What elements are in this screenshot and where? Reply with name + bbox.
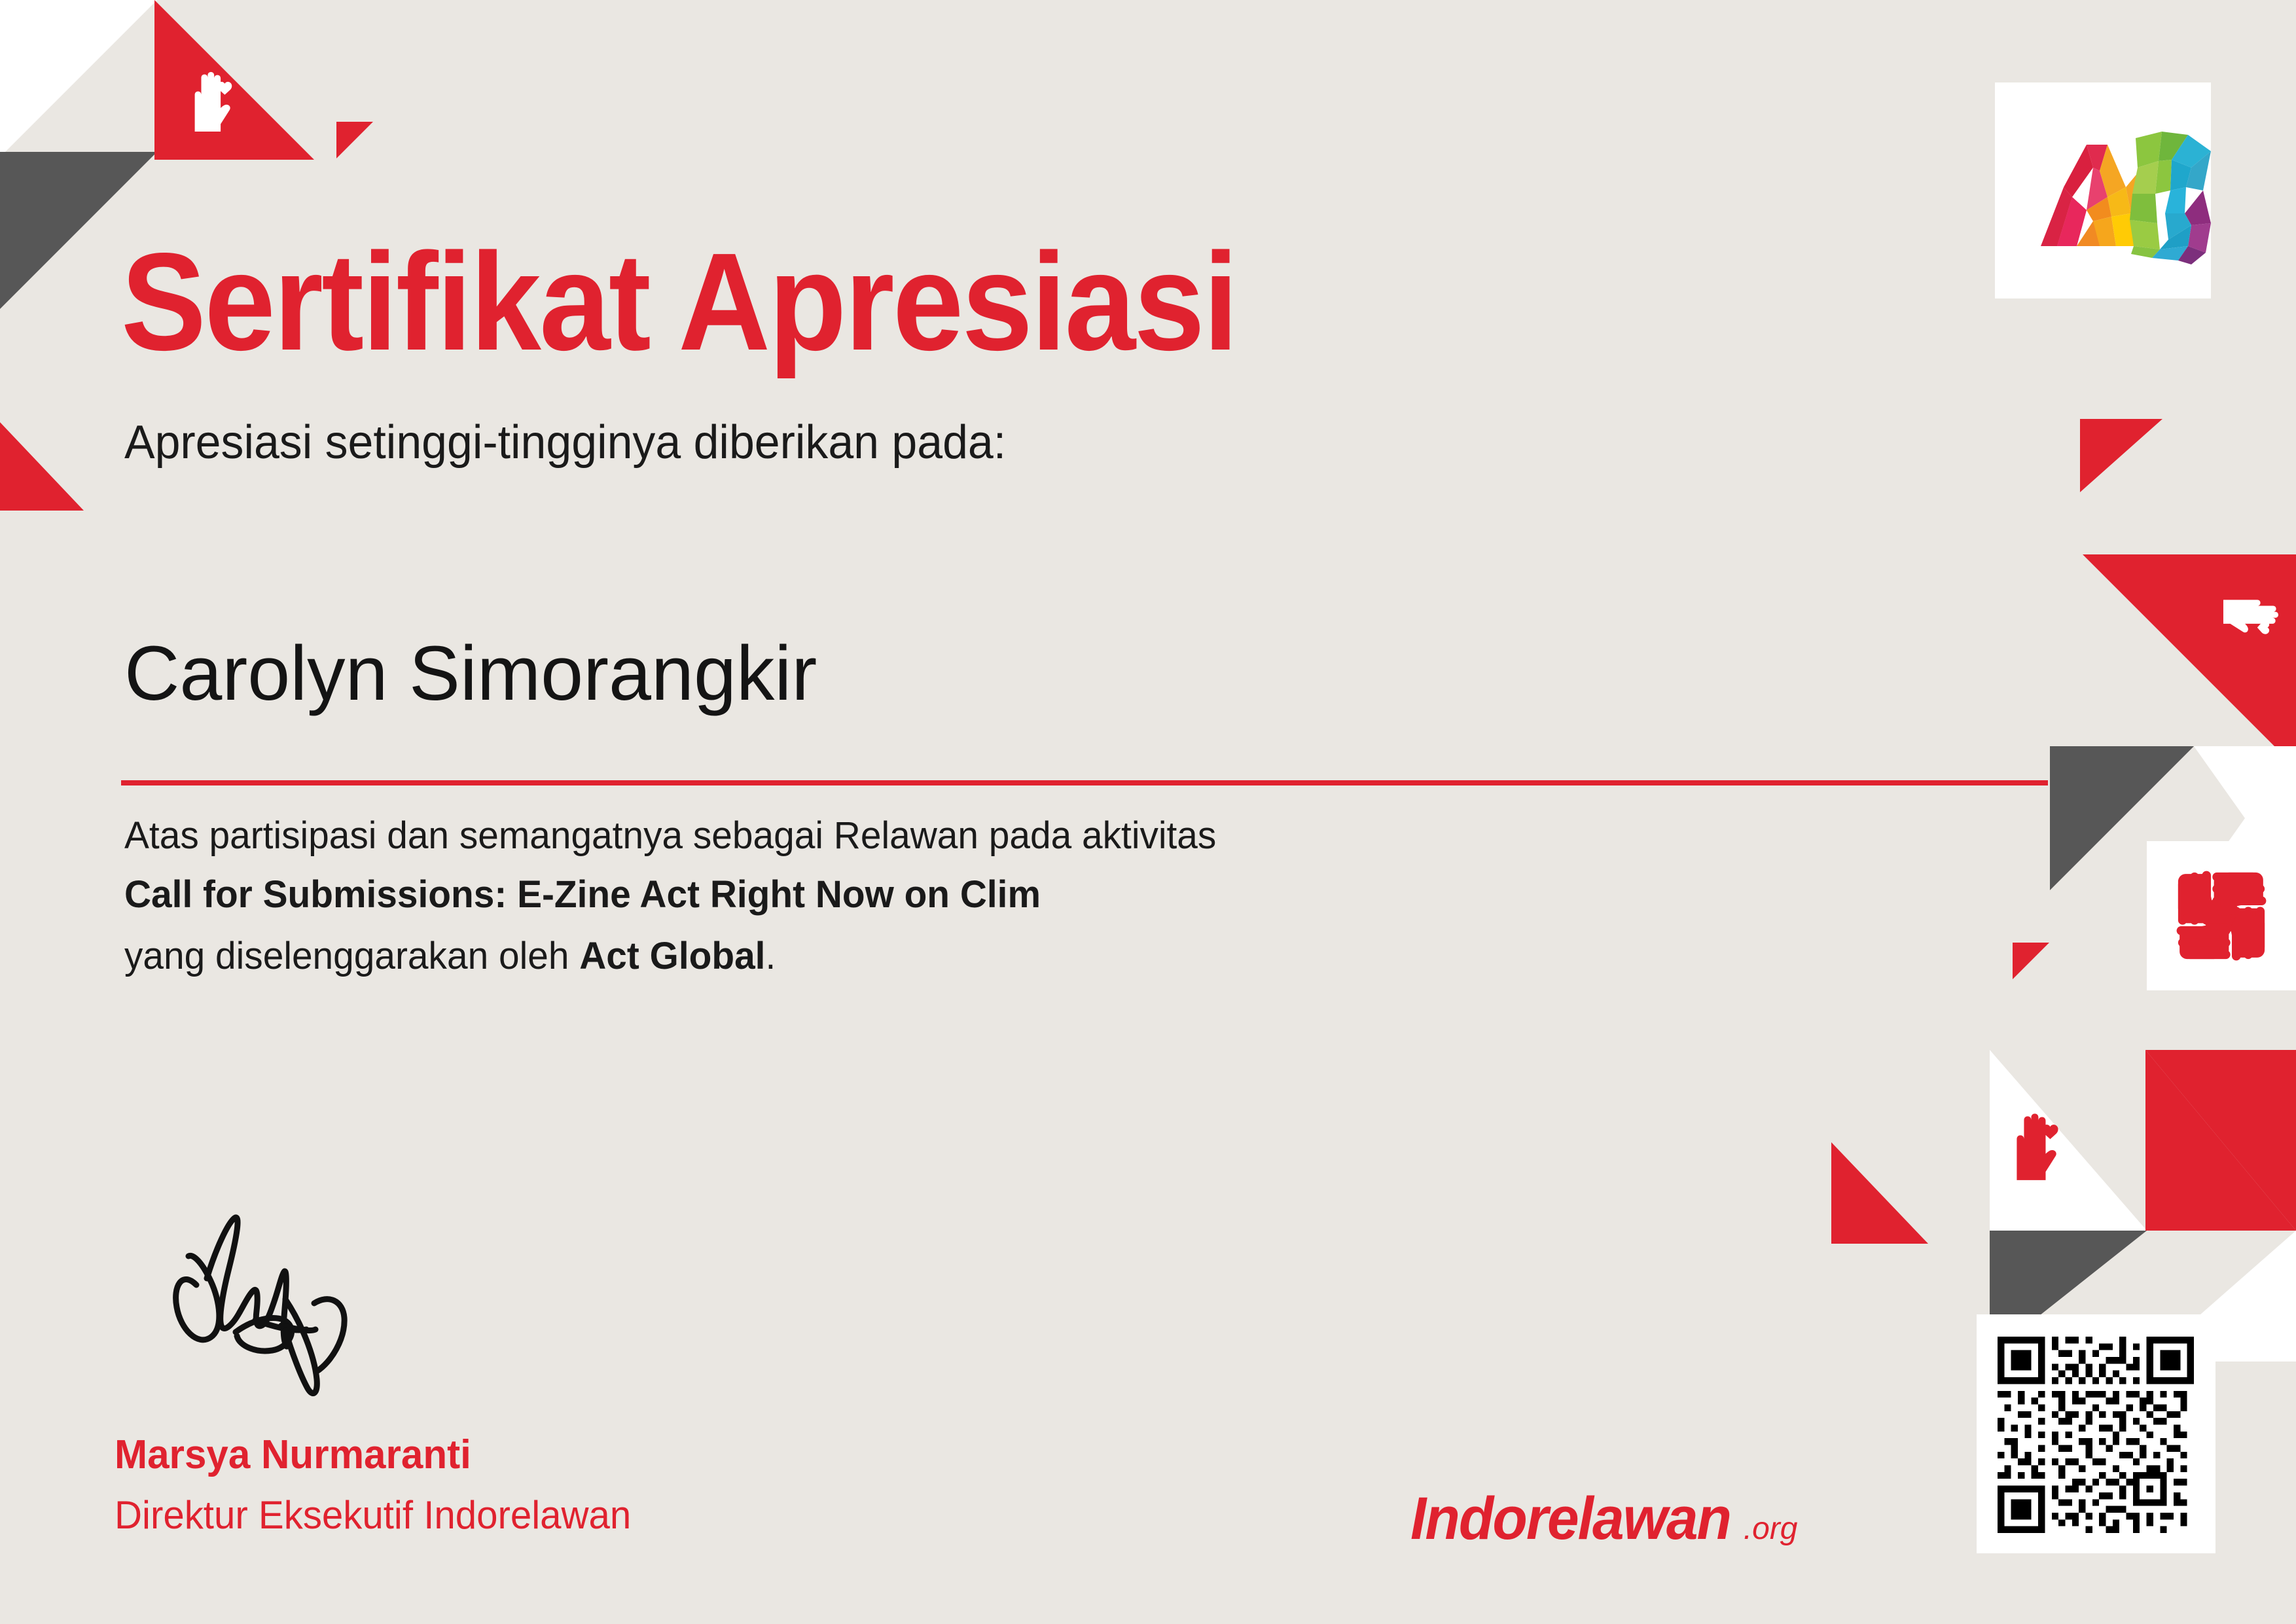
certificate-subtitle: Apresiasi setinggi-tingginya diberikan p… bbox=[124, 419, 1006, 466]
decor-red-triangle-lower-left-of-panel bbox=[1831, 1142, 1928, 1244]
signer-role: Direktur Eksekutif Indorelawan bbox=[115, 1496, 631, 1535]
decor-white-triangle-topleft bbox=[0, 0, 157, 157]
decor-white-panel-hand-heart-shape bbox=[1990, 1050, 2147, 1231]
decor-red-triangle-left-edge bbox=[0, 422, 84, 511]
handwritten-signature bbox=[151, 1208, 425, 1404]
decor-small-red-triangle-mid-right bbox=[2013, 943, 2049, 979]
body-line-activity: Call for Submissions: E-Zine Act Right N… bbox=[124, 876, 1041, 914]
verification-qr-code[interactable] bbox=[1998, 1337, 2194, 1533]
signer-name: Marsya Nurmaranti bbox=[115, 1435, 471, 1475]
act-global-logo bbox=[1995, 82, 2211, 298]
decor-red-triangle-hand-right bbox=[2083, 554, 2296, 768]
organizer-name: Act Global bbox=[579, 935, 765, 977]
brand-name: Indorelawan bbox=[1410, 1485, 1731, 1553]
certificate-canvas: Sertifikat Apresiasi Apresiasi setinggi-… bbox=[0, 0, 2296, 1624]
indorelawan-brand: Indorelawan.org bbox=[1410, 1485, 1798, 1553]
body-line-participation: Atas partisipasi dan semangatnya sebagai… bbox=[124, 817, 1216, 855]
four-hands-icon bbox=[2147, 841, 2296, 990]
body-line-organizer: yang diselenggarakan oleh Act Global. bbox=[124, 937, 776, 975]
decor-red-triangle-lower-right bbox=[2145, 1050, 2296, 1231]
decor-small-red-triangle-top bbox=[336, 122, 373, 158]
decor-red-triangle-upper-right bbox=[2080, 419, 2162, 492]
recipient-underline bbox=[121, 780, 2048, 785]
certificate-title: Sertifikat Apresiasi bbox=[121, 232, 1237, 371]
decor-red-triangle-hand-heart-topleft bbox=[154, 0, 314, 160]
brand-tld: .org bbox=[1744, 1511, 1798, 1547]
organizer-suffix: . bbox=[765, 935, 776, 977]
organizer-prefix: yang diselenggarakan oleh bbox=[124, 935, 579, 977]
recipient-name: Carolyn Simorangkir bbox=[124, 635, 817, 712]
